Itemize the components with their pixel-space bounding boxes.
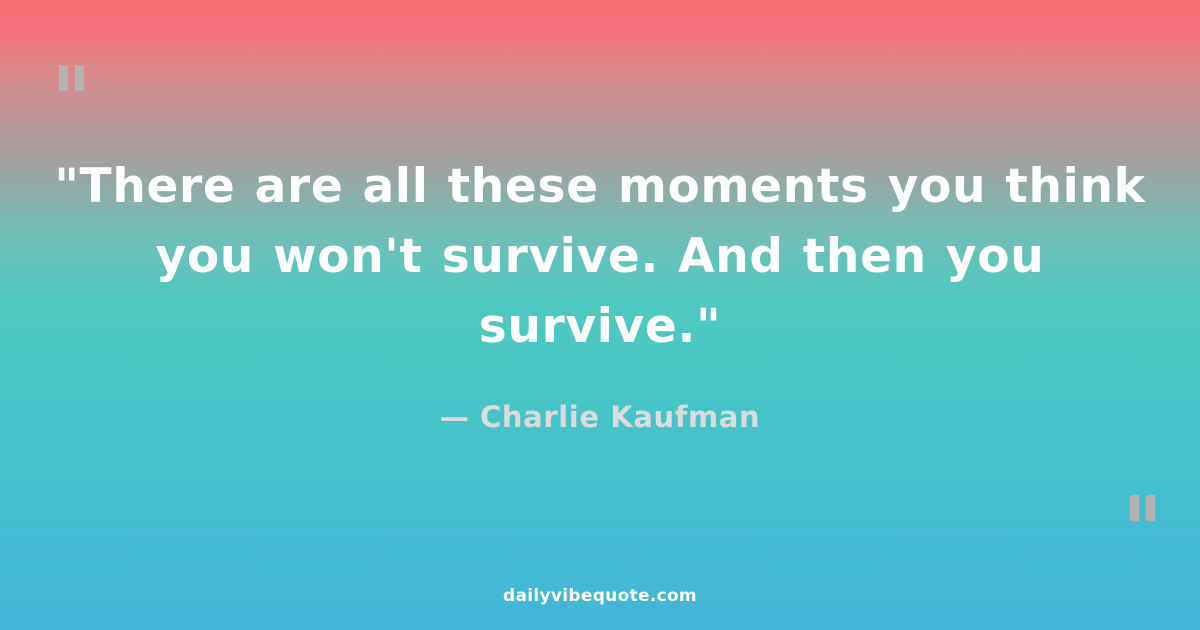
quote-bar-right [75,65,84,91]
quote-bar-left [59,65,68,91]
quote-bar-left [1130,495,1139,521]
quote-card: "There are all these moments you think y… [0,0,1200,630]
quote-bars-icon-bottom [1130,495,1155,521]
quote-bar-right [1146,495,1155,521]
site-footer-url: dailyvibequote.com [0,586,1200,606]
quote-text: "There are all these moments you think y… [48,152,1152,362]
quote-body: "There are all these moments you think y… [0,152,1200,362]
quote-bars-icon-top [59,65,84,91]
quote-attribution: — Charlie Kaufman [0,400,1200,434]
